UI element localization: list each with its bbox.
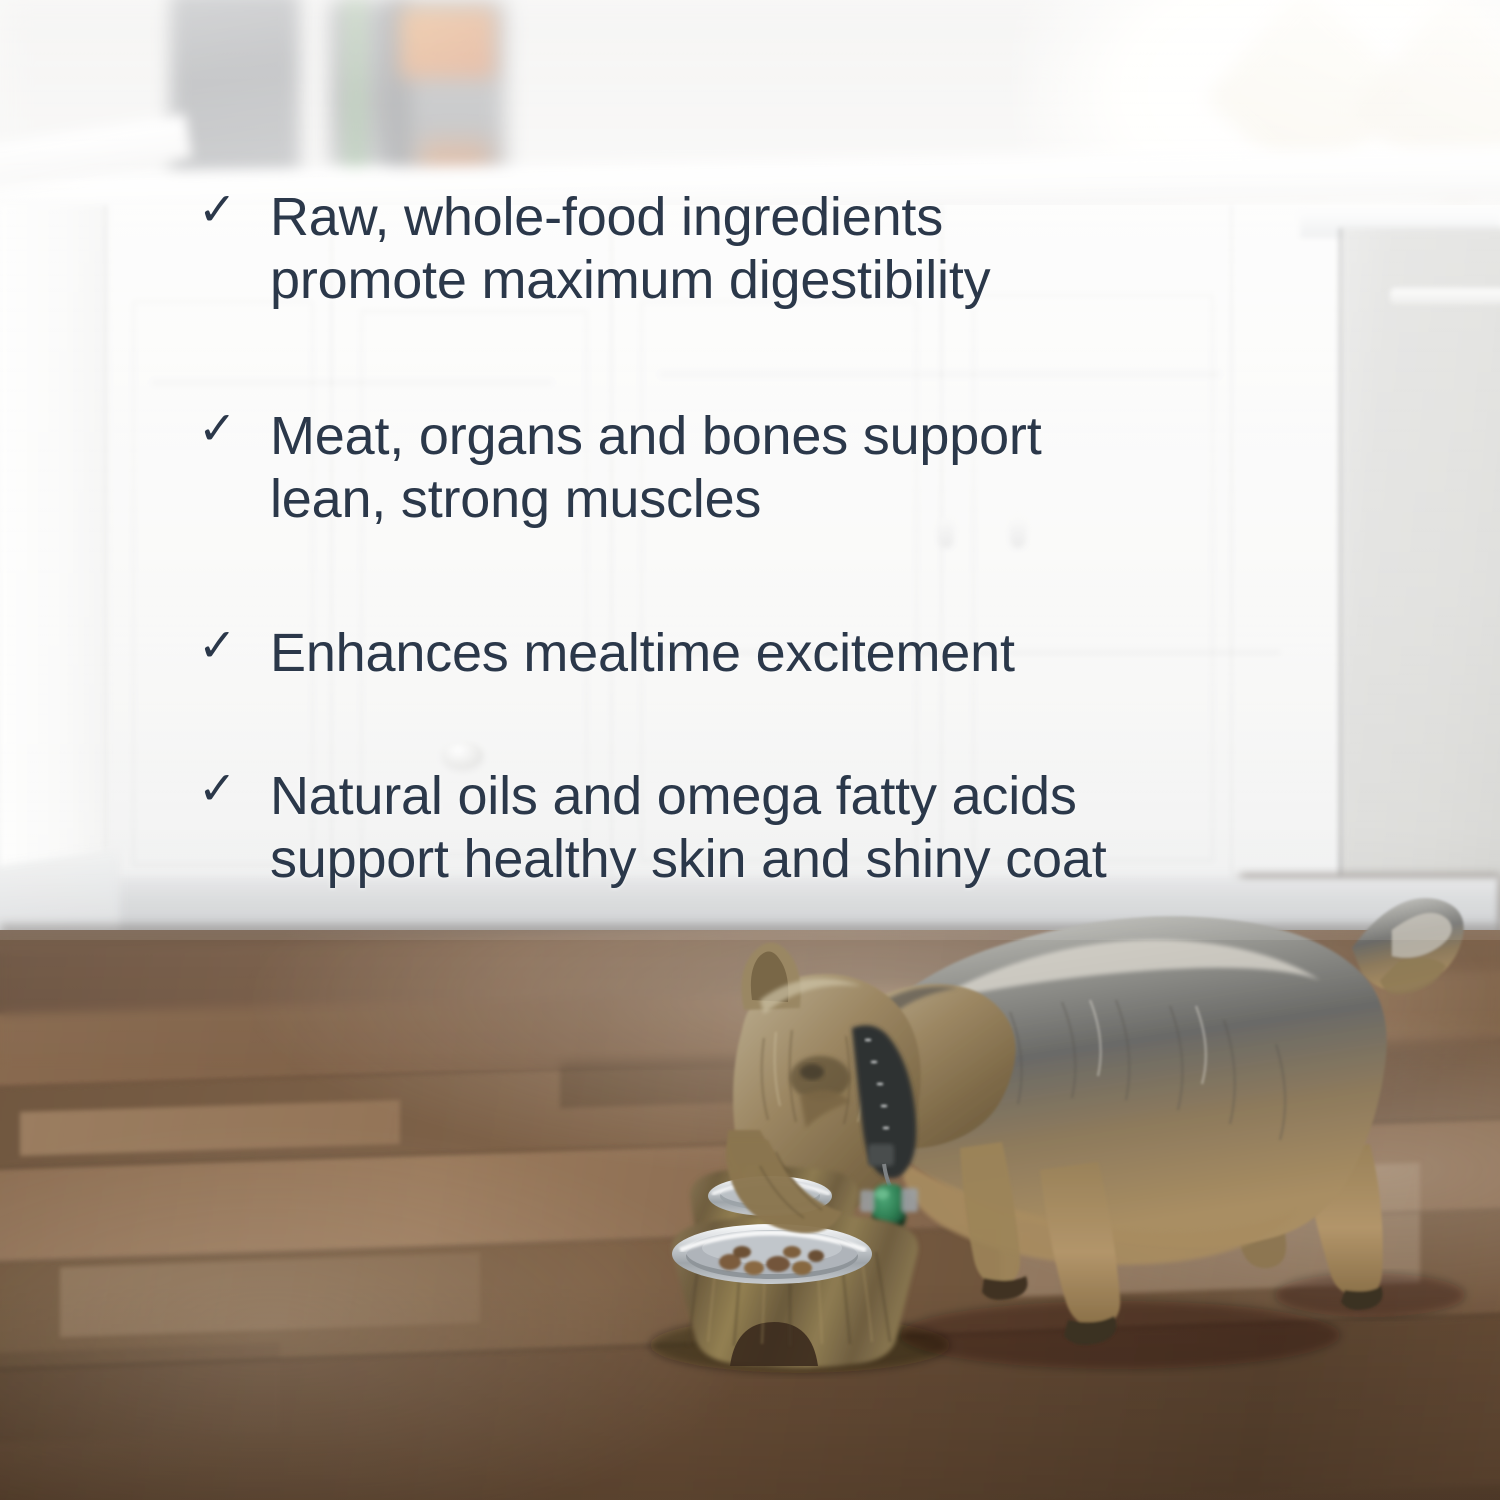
checkmark-icon: ✓ [198, 405, 242, 451]
benefits-list: ✓ Raw, whole-food ingredients promote ma… [0, 0, 1500, 940]
benefit-item-1: ✓ Raw, whole-food ingredients promote ma… [198, 186, 990, 311]
benefit-item-3: ✓ Enhances mealtime excitement [198, 622, 1015, 685]
checkmark-icon: ✓ [198, 765, 242, 811]
benefit-text-2: Meat, organs and bones support lean, str… [270, 405, 1042, 530]
benefit-text-4: Natural oils and omega fatty acids suppo… [270, 765, 1107, 890]
checkmark-icon: ✓ [198, 622, 242, 668]
benefit-text-1: Raw, whole-food ingredients promote maxi… [270, 186, 990, 311]
dog-shadow [900, 1301, 1340, 1369]
checkmark-icon: ✓ [198, 186, 242, 232]
benefit-item-2: ✓ Meat, organs and bones support lean, s… [198, 405, 1042, 530]
collar-buckle [868, 1144, 894, 1166]
benefit-item-4: ✓ Natural oils and omega fatty acids sup… [198, 765, 1107, 890]
benefit-text-3: Enhances mealtime excitement [270, 622, 1015, 685]
marketing-graphic: ✓ Raw, whole-food ingredients promote ma… [0, 0, 1500, 1500]
